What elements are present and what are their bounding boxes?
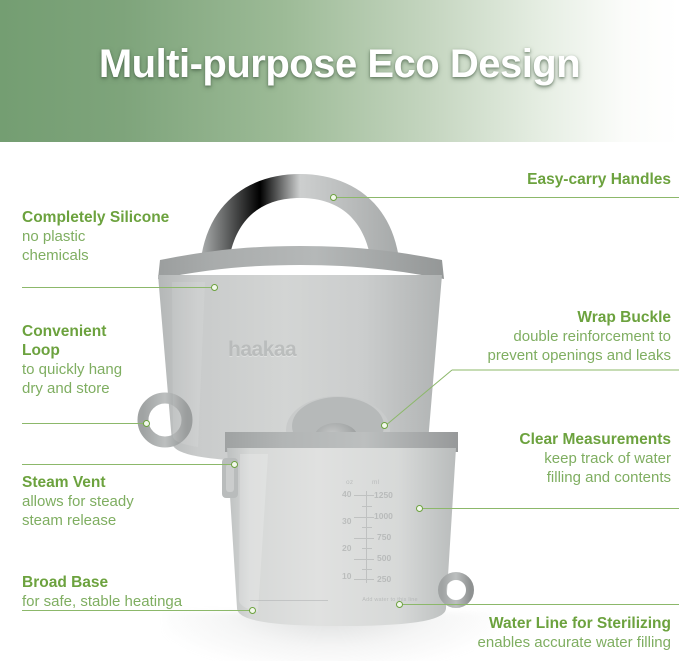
callout-line-broad-base-1: for safe, stable heatinga bbox=[22, 592, 182, 611]
callout-title-completely-silicone: Completely Silicone bbox=[22, 208, 169, 227]
callout-wrap-buckle: Wrap Buckle double reinforcement to prev… bbox=[488, 308, 671, 365]
scale-oz-30: 30 bbox=[342, 516, 351, 526]
dot-clear-measurements bbox=[416, 505, 423, 512]
leader-clear-measurements bbox=[420, 508, 679, 509]
infographic-canvas: Multi-purpose Eco Design bbox=[0, 0, 679, 661]
scale-unit-oz: oz bbox=[346, 479, 353, 486]
leader-wrap-buckle bbox=[380, 360, 679, 430]
dot-wrap-buckle bbox=[381, 422, 388, 429]
callout-title-convenient-loop: Convenient bbox=[22, 322, 122, 341]
measurement-scale: oz ml 40 30 20 10 1250 1000 750 500 250 bbox=[340, 479, 410, 594]
callout-title2-convenient-loop: Loop bbox=[22, 341, 122, 360]
callout-water-line-sterilizing: Water Line for Sterilizing enables accur… bbox=[478, 614, 671, 652]
water-line-note: Add water to this line bbox=[330, 597, 450, 603]
leader-water-line bbox=[400, 604, 679, 605]
dot-steam-vent bbox=[231, 461, 238, 468]
scale-ml-1250: 1250 bbox=[374, 490, 393, 500]
callout-line-completely-silicone-2: chemicals bbox=[22, 246, 169, 265]
callout-line-convenient-loop-2: dry and store bbox=[22, 379, 122, 398]
leader-convenient-loop bbox=[22, 423, 146, 424]
callout-title-wrap-buckle: Wrap Buckle bbox=[488, 308, 671, 327]
leader-steam-vent bbox=[22, 464, 234, 465]
callout-completely-silicone: Completely Silicone no plastic chemicals bbox=[22, 208, 169, 265]
callout-title-broad-base: Broad Base bbox=[22, 573, 182, 592]
dot-completely-silicone bbox=[211, 284, 218, 291]
scale-ml-500: 500 bbox=[377, 553, 391, 563]
scale-unit-ml: ml bbox=[372, 479, 379, 486]
callout-line-steam-vent-2: steam release bbox=[22, 511, 134, 530]
dot-convenient-loop bbox=[143, 420, 150, 427]
scale-oz-40: 40 bbox=[342, 489, 351, 499]
callout-broad-base: Broad Base for safe, stable heatinga bbox=[22, 573, 182, 611]
leader-easy-carry-handles bbox=[336, 197, 679, 198]
callout-title-easy-carry-handles: Easy-carry Handles bbox=[527, 170, 671, 189]
leader-completely-silicone bbox=[22, 287, 214, 288]
scale-ml-1000: 1000 bbox=[374, 511, 393, 521]
callout-line-steam-vent-1: allows for steady bbox=[22, 492, 134, 511]
dot-broad-base bbox=[249, 607, 256, 614]
callout-title-steam-vent: Steam Vent bbox=[22, 473, 134, 492]
dot-easy-carry-handles bbox=[330, 194, 337, 201]
scale-oz-20: 20 bbox=[342, 543, 351, 553]
callout-line-clear-measurements-2: filling and contents bbox=[519, 468, 671, 487]
callout-clear-measurements: Clear Measurements keep track of water f… bbox=[519, 430, 671, 487]
page-title: Multi-purpose Eco Design bbox=[0, 42, 679, 87]
scale-ml-250: 250 bbox=[377, 574, 391, 584]
callout-steam-vent: Steam Vent allows for steady steam relea… bbox=[22, 473, 134, 530]
callout-title-clear-measurements: Clear Measurements bbox=[519, 430, 671, 449]
callout-line-completely-silicone-1: no plastic bbox=[22, 227, 169, 246]
callout-convenient-loop: Convenient Loop to quickly hang dry and … bbox=[22, 322, 122, 398]
scale-oz-10: 10 bbox=[342, 571, 351, 581]
dot-water-line bbox=[396, 601, 403, 608]
callout-line-wrap-buckle-2: prevent openings and leaks bbox=[488, 346, 671, 365]
callout-easy-carry-handles: Easy-carry Handles bbox=[527, 170, 671, 189]
callout-line-convenient-loop-1: to quickly hang bbox=[22, 360, 122, 379]
callout-line-clear-measurements-1: keep track of water bbox=[519, 449, 671, 468]
callout-line-wrap-buckle-1: double reinforcement to bbox=[488, 327, 671, 346]
callout-line-water-line-sterilizing-1: enables accurate water filling bbox=[478, 633, 671, 652]
scale-ml-750: 750 bbox=[377, 532, 391, 542]
callout-title-water-line-sterilizing: Water Line for Sterilizing bbox=[478, 614, 671, 633]
brand-emboss: haakaa bbox=[228, 338, 296, 362]
